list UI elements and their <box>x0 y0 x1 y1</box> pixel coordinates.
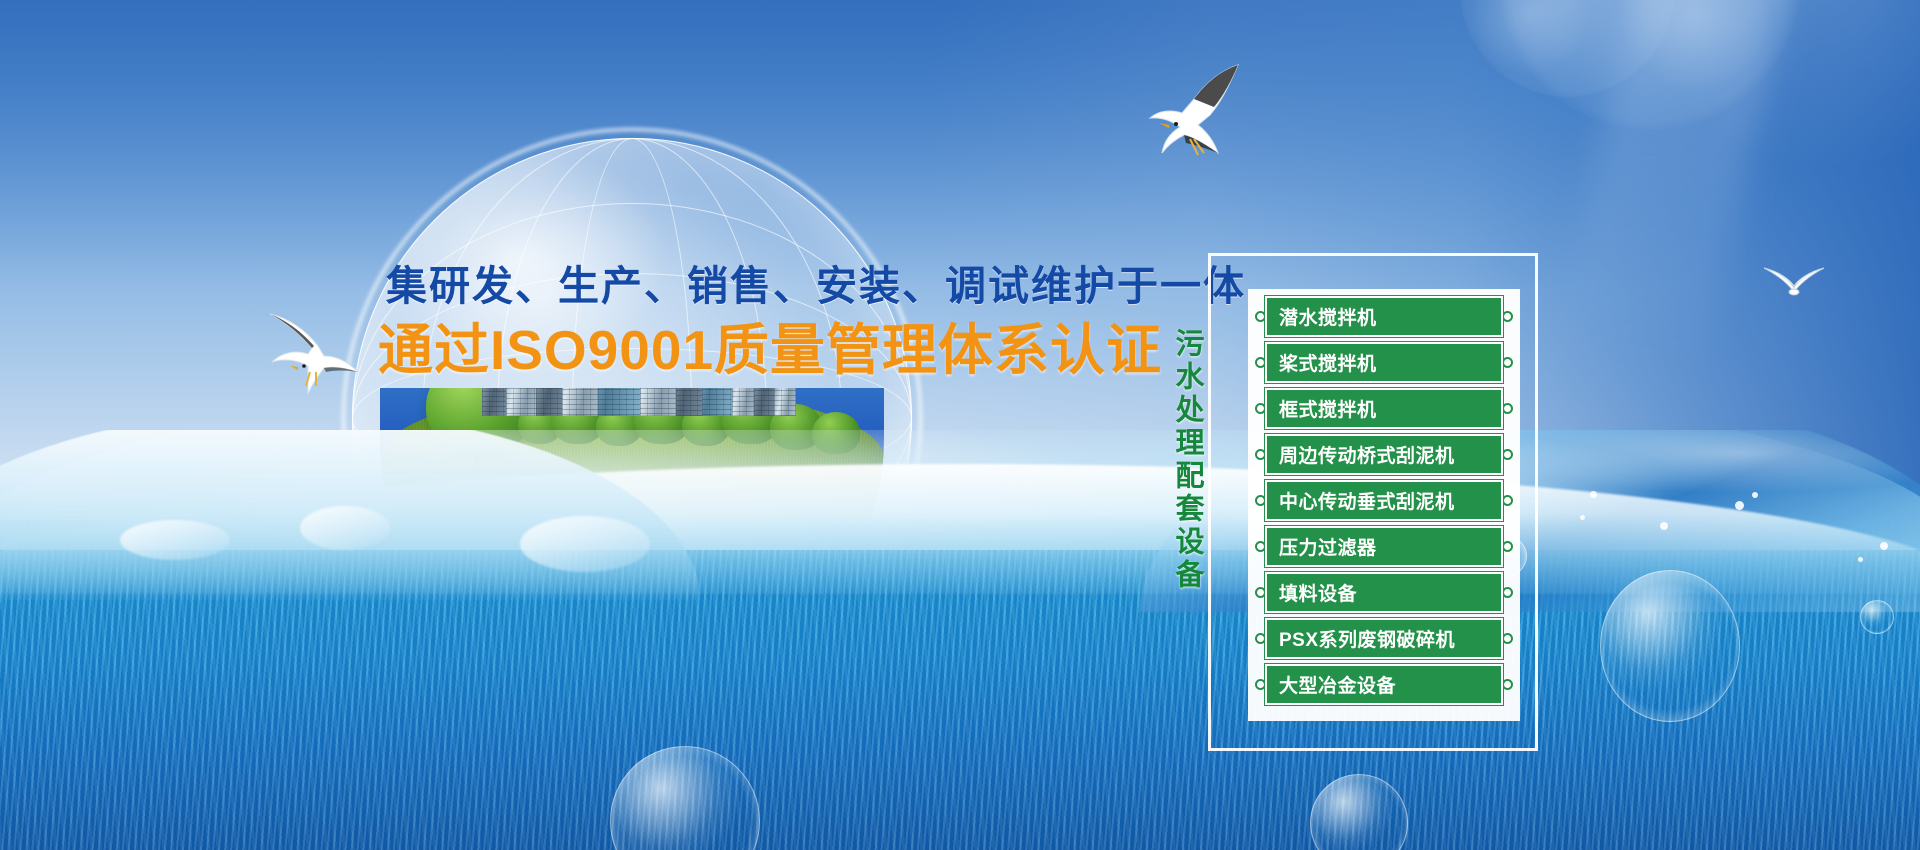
page-subtitle: 通过ISO9001质量管理体系认证 <box>370 305 1170 385</box>
water-droplet <box>1735 501 1744 510</box>
list-item[interactable]: 框式搅拌机 <box>1256 388 1512 429</box>
product-pill[interactable]: 中心传动垂式刮泥机 <box>1265 480 1503 521</box>
water-bubble-icon <box>1860 600 1894 634</box>
water-splash <box>300 506 390 550</box>
product-pill[interactable]: 大型冶金设备 <box>1265 664 1503 705</box>
product-pill[interactable]: 压力过滤器 <box>1265 526 1503 567</box>
list-item[interactable]: 大型冶金设备 <box>1256 664 1512 705</box>
water-droplet <box>1590 491 1597 498</box>
seagull-left-icon <box>250 300 370 400</box>
connector-knob-right-icon <box>1502 449 1513 460</box>
product-label: 潜水搅拌机 <box>1279 303 1377 330</box>
list-item[interactable]: 潜水搅拌机 <box>1256 296 1512 337</box>
list-item[interactable]: 桨式搅拌机 <box>1256 342 1512 383</box>
product-label: 桨式搅拌机 <box>1279 349 1377 376</box>
product-list: 潜水搅拌机 桨式搅拌机 框式搅拌机 <box>1248 289 1520 721</box>
water-droplet <box>1752 492 1758 498</box>
product-pill[interactable]: 填料设备 <box>1265 572 1503 613</box>
product-label: 压力过滤器 <box>1279 533 1377 560</box>
promo-banner: 集研发、生产、销售、安装、调试维护于一体 通过ISO9001质量管理体系认证 <box>0 0 1920 850</box>
product-label: 填料设备 <box>1279 579 1357 606</box>
connector-knob-right-icon <box>1502 403 1513 414</box>
product-label: 框式搅拌机 <box>1279 395 1377 422</box>
connector-knob-right-icon <box>1502 311 1513 322</box>
seagull-small-icon <box>1756 262 1832 308</box>
product-pill[interactable]: 框式搅拌机 <box>1265 388 1503 429</box>
product-pill[interactable]: PSX系列废钢破碎机 <box>1265 618 1503 659</box>
list-item[interactable]: 填料设备 <box>1256 572 1512 613</box>
water-bubble-icon <box>1600 570 1740 722</box>
seagull-large-icon <box>1110 55 1260 185</box>
water-droplet <box>1580 515 1585 520</box>
water-droplet <box>1880 542 1888 550</box>
connector-knob-right-icon <box>1502 357 1513 368</box>
list-item[interactable]: 压力过滤器 <box>1256 526 1512 567</box>
connector-knob-right-icon <box>1502 679 1513 690</box>
connector-knob-right-icon <box>1502 495 1513 506</box>
product-label: 大型冶金设备 <box>1279 671 1396 698</box>
product-pill[interactable]: 桨式搅拌机 <box>1265 342 1503 383</box>
product-label: 中心传动垂式刮泥机 <box>1279 487 1455 514</box>
list-item[interactable]: 周边传动桥式刮泥机 <box>1256 434 1512 475</box>
product-pill[interactable]: 潜水搅拌机 <box>1265 296 1503 337</box>
product-pill[interactable]: 周边传动桥式刮泥机 <box>1265 434 1503 475</box>
water-scene <box>0 430 1920 850</box>
water-droplet <box>1660 522 1668 530</box>
panel-vertical-title: 污水处理配套设备 <box>1172 328 1201 592</box>
list-item[interactable]: 中心传动垂式刮泥机 <box>1256 480 1512 521</box>
page-title: 集研发、生产、销售、安装、调试维护于一体 <box>386 252 1146 312</box>
connector-knob-right-icon <box>1502 541 1513 552</box>
water-droplet <box>1858 557 1863 562</box>
water-splash <box>520 516 650 572</box>
connector-knob-right-icon <box>1502 587 1513 598</box>
product-label: 周边传动桥式刮泥机 <box>1279 441 1455 468</box>
list-item[interactable]: PSX系列废钢破碎机 <box>1256 618 1512 659</box>
connector-knob-right-icon <box>1502 633 1513 644</box>
product-list-panel: 污水处理配套设备 潜水搅拌机 桨式搅拌机 框式搅拌机 <box>1208 253 1538 751</box>
product-label: PSX系列废钢破碎机 <box>1279 625 1455 652</box>
water-splash <box>120 520 230 560</box>
